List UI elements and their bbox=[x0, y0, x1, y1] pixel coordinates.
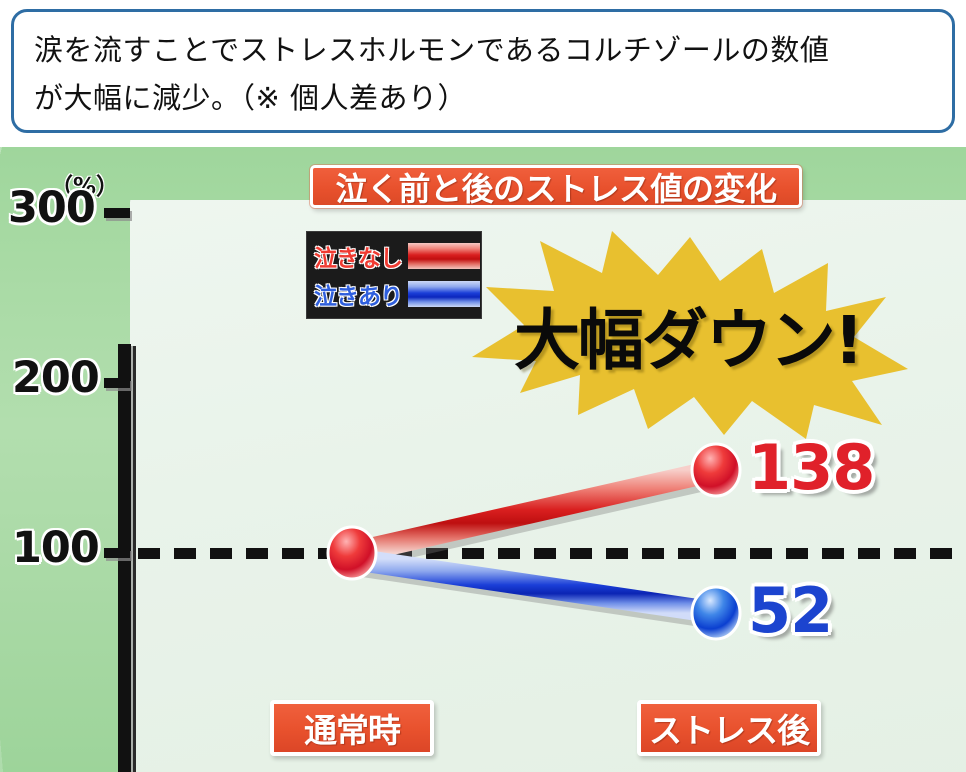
y-axis-label-100: 100 bbox=[12, 523, 99, 573]
legend: 泣きなし 泣きあり bbox=[306, 231, 482, 319]
legend-row-no-crying: 泣きなし bbox=[314, 239, 474, 273]
legend-swatch-red bbox=[408, 243, 480, 269]
caption-text: 涙を流すことでストレスホルモンであるコルチゾールの数値 が大幅に減少。（※ 個人… bbox=[34, 26, 932, 122]
legend-label-crying: 泣きあり bbox=[314, 277, 402, 311]
value-label-52: 52 bbox=[748, 574, 832, 647]
y-tick-300 bbox=[104, 208, 130, 218]
y-tick-200 bbox=[104, 378, 130, 388]
reference-line-100 bbox=[138, 548, 966, 559]
chart-panel: （%） 300 200 100 泣く前と後のストレス値の変化 大幅ダウン! 泣き… bbox=[0, 147, 966, 772]
x-category-normal: 通常時 bbox=[270, 700, 434, 756]
screenshot-root: 涙を流すことでストレスホルモンであるコルチゾールの数値 が大幅に減少。（※ 個人… bbox=[0, 0, 966, 772]
y-axis bbox=[118, 344, 131, 772]
caption-callout-box: 涙を流すことでストレスホルモンであるコルチゾールの数値 が大幅に減少。（※ 個人… bbox=[11, 9, 955, 133]
y-tick-100 bbox=[104, 548, 130, 558]
y-axis-label-300: 300 bbox=[8, 183, 95, 233]
chart-title: 泣く前と後のストレス値の変化 bbox=[310, 165, 802, 208]
x-category-after-stress: ストレス後 bbox=[637, 700, 821, 756]
legend-row-crying: 泣きあり bbox=[314, 277, 474, 311]
starburst-annotation: 大幅ダウン! bbox=[462, 229, 908, 441]
value-label-138: 138 bbox=[748, 431, 874, 504]
annotation-text: 大幅ダウン! bbox=[462, 229, 908, 441]
legend-label-no-crying: 泣きなし bbox=[314, 239, 402, 273]
y-axis-label-200: 200 bbox=[12, 353, 99, 403]
legend-swatch-blue bbox=[408, 281, 480, 307]
